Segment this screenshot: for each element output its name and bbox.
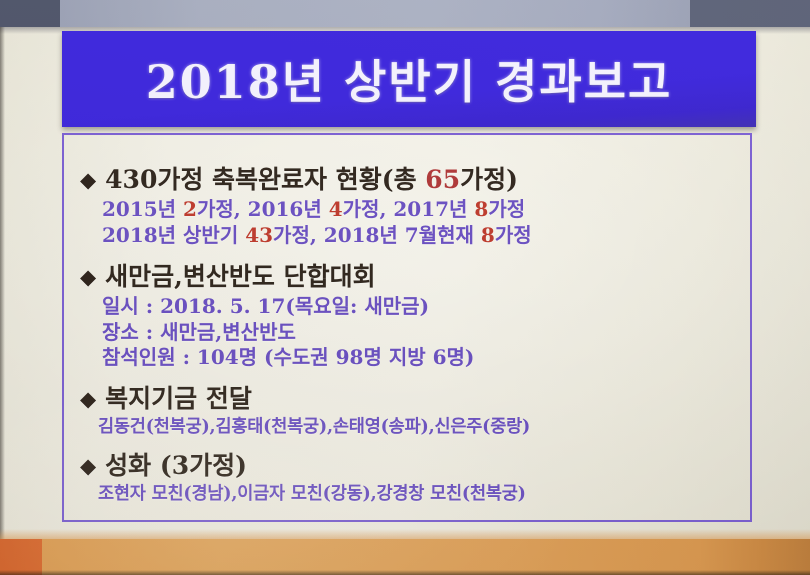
section-detail-line: 2018년 상반기 43가정, 2018년 7월현재 8가정 — [80, 223, 760, 249]
detail-fragment: 2 — [183, 197, 197, 221]
detail-fragment: 일시 : 2018. 5. 17(목요일: 새만금) — [102, 294, 429, 318]
section-detail-line: 참석인원 : 104명 (수도권 98명 지방 6명) — [80, 345, 760, 371]
section-heading-text: 새만금,변산반도 단합대회 — [105, 257, 375, 293]
section-gap — [80, 250, 760, 257]
slide-section: ◆새만금,변산반도 단합대회일시 : 2018. 5. 17(목요일: 새만금)… — [80, 257, 760, 371]
diamond-bullet-icon: ◆ — [80, 456, 96, 477]
detail-fragment: 2018년 상반기 — [102, 223, 245, 247]
heading-fragment: 430가정 축복완료자 현황(총 — [105, 165, 425, 194]
presentation-slide-photo: 2018년 상반기 경과보고 ◆430가정 축복완료자 현황(총 65가정)20… — [0, 0, 810, 575]
detail-fragment: 가정, 2018년 7월현재 — [273, 223, 481, 247]
heading-fragment: 복지기금 전달 — [105, 384, 252, 413]
section-heading-row: ◆성화 (3가정) — [80, 446, 760, 482]
detail-fragment: 8 — [474, 197, 488, 221]
heading-fragment: 성화 (3가정) — [105, 451, 247, 480]
section-detail-line: 조현자 모친(경남),이금자 모친(강동),강경창 모친(천복궁) — [80, 483, 760, 505]
section-heading-text: 복지기금 전달 — [105, 379, 252, 415]
screen-bottom-band-fade — [0, 529, 810, 539]
detail-fragment: 가정 — [495, 223, 532, 247]
detail-fragment: 가정 — [488, 197, 525, 221]
slide-section: ◆430가정 축복완료자 현황(총 65가정)2015년 2가정, 2016년 … — [80, 160, 760, 248]
diamond-bullet-icon: ◆ — [80, 170, 96, 191]
section-detail-line: 장소 : 새만금,변산반도 — [80, 320, 760, 346]
detail-fragment: 8 — [481, 223, 495, 247]
heading-fragment: 새만금,변산반도 단합대회 — [105, 262, 375, 291]
section-heading-text: 성화 (3가정) — [105, 446, 247, 482]
section-heading-row: ◆430가정 축복완료자 현황(총 65가정) — [80, 160, 760, 196]
screen-left-edge — [0, 27, 5, 539]
screen-top-band — [0, 0, 810, 27]
slide-section: ◆복지기금 전달김동건(천복궁),김홍태(천복궁),손태영(송파),신은주(중랑… — [80, 379, 760, 438]
section-detail-line: 2015년 2가정, 2016년 4가정, 2017년 8가정 — [80, 197, 760, 223]
detail-fragment: 김동건(천복궁),김홍태(천복궁),손태영(송파),신은주(중랑) — [98, 417, 530, 437]
diamond-bullet-icon: ◆ — [80, 389, 96, 410]
detail-fragment: 가정, 2017년 — [343, 197, 475, 221]
slide-title-plate: 2018년 상반기 경과보고 — [62, 31, 756, 127]
heading-fragment: 가정) — [460, 165, 518, 194]
detail-fragment: 2015년 — [102, 197, 183, 221]
heading-fragment: 65 — [425, 165, 460, 194]
section-detail-line: 김동건(천복궁),김홍태(천복궁),손태영(송파),신은주(중랑) — [80, 416, 760, 438]
detail-fragment: 장소 : 새만금,변산반도 — [102, 320, 296, 344]
detail-fragment: 참석인원 : 104명 (수도권 98명 지방 6명) — [102, 345, 474, 369]
detail-fragment: 43 — [245, 223, 273, 247]
slide-content: ◆430가정 축복완료자 현황(총 65가정)2015년 2가정, 2016년 … — [80, 160, 760, 508]
section-heading-text: 430가정 축복완료자 현황(총 65가정) — [105, 160, 518, 196]
detail-fragment: 조현자 모친(경남),이금자 모친(강동),강경창 모친(천복궁) — [98, 484, 526, 504]
screen-bottom-edge — [0, 570, 810, 575]
detail-fragment: 가정, 2016년 — [197, 197, 329, 221]
slide-section: ◆성화 (3가정)조현자 모친(경남),이금자 모친(강동),강경창 모친(천복… — [80, 446, 760, 505]
section-detail-line: 일시 : 2018. 5. 17(목요일: 새만금) — [80, 294, 760, 320]
detail-fragment: 4 — [329, 197, 343, 221]
diamond-bullet-icon: ◆ — [80, 267, 96, 288]
section-heading-row: ◆새만금,변산반도 단합대회 — [80, 257, 760, 293]
section-heading-row: ◆복지기금 전달 — [80, 379, 760, 415]
slide-title: 2018년 상반기 경과보고 — [146, 46, 673, 112]
